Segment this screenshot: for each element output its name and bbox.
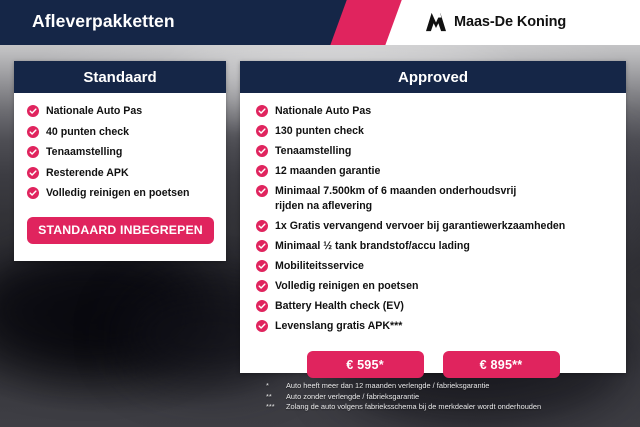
footnote-row: *** Zolang de auto volgens fabrieksschem…: [266, 402, 626, 413]
package-body-approved: Nationale Auto Pas 130 punten check Tena…: [240, 93, 626, 378]
footnote-marker: ***: [266, 402, 286, 413]
footnote-text: Auto zonder verlengde / fabrieksgarantie: [286, 392, 626, 403]
package-card-standaard: Standaard Nationale Auto Pas 40 punten c…: [14, 61, 226, 261]
check-circle-icon: [27, 167, 39, 179]
feature-list-approved: Nationale Auto Pas 130 punten check Tena…: [240, 104, 626, 334]
feature-label: Nationale Auto Pas: [275, 104, 371, 119]
maas-de-koning-logo-icon: [425, 12, 447, 32]
feature-label: Mobiliteitsservice: [275, 259, 364, 274]
check-circle-icon: [256, 220, 268, 232]
package-heading-standaard: Standaard: [14, 61, 226, 93]
list-item: 12 maanden garantie: [256, 164, 612, 179]
price-button-595[interactable]: € 595*: [307, 351, 424, 378]
list-item: 40 punten check: [27, 125, 216, 140]
footnotes: * Auto heeft meer dan 12 maanden verleng…: [266, 381, 626, 413]
feature-label: Volledig reinigen en poetsen: [46, 186, 189, 201]
list-item: Nationale Auto Pas: [27, 104, 216, 119]
package-heading-approved: Approved: [240, 61, 626, 93]
feature-label: 40 punten check: [46, 125, 129, 140]
check-circle-icon: [256, 145, 268, 157]
check-circle-icon: [27, 146, 39, 158]
list-item: Minimaal 7.500km of 6 maanden onderhouds…: [256, 184, 612, 214]
footnote-row: ** Auto zonder verlengde / fabrieksgaran…: [266, 392, 626, 403]
check-circle-icon: [256, 185, 268, 197]
footnote-marker: *: [266, 381, 286, 392]
top-header-bar: Afleverpakketten Maas-De Koning: [0, 0, 640, 45]
feature-label: 12 maanden garantie: [275, 164, 380, 179]
list-item: Nationale Auto Pas: [256, 104, 612, 119]
feature-label-continuation: rijden na aflevering: [275, 199, 516, 214]
feature-label: Tenaamstelling: [275, 144, 351, 159]
footnote-text: Auto heeft meer dan 12 maanden verlengde…: [286, 381, 626, 392]
list-item: Resterende APK: [27, 166, 216, 181]
check-circle-icon: [256, 300, 268, 312]
check-circle-icon: [256, 105, 268, 117]
brand-name: Maas-De Koning: [454, 14, 566, 30]
standaard-cta-wrap: STANDAARD INBEGREPEN: [14, 207, 226, 244]
feature-label: Nationale Auto Pas: [46, 104, 142, 119]
feature-label: Battery Health check (EV): [275, 299, 404, 314]
check-circle-icon: [256, 240, 268, 252]
package-body-standaard: Nationale Auto Pas 40 punten check Tenaa…: [14, 93, 226, 244]
feature-label: Volledig reinigen en poetsen: [275, 279, 418, 294]
brand-lockup: Maas-De Koning: [425, 12, 566, 32]
check-circle-icon: [27, 126, 39, 138]
afleverpakketten-screen: Afleverpakketten Maas-De Koning Standaar…: [0, 0, 640, 427]
list-item: Minimaal ½ tank brandstof/accu lading: [256, 239, 612, 254]
check-circle-icon: [256, 165, 268, 177]
footnote-marker: **: [266, 392, 286, 403]
feature-label: 130 punten check: [275, 124, 364, 139]
price-button-895[interactable]: € 895**: [443, 351, 560, 378]
list-item: Battery Health check (EV): [256, 299, 612, 314]
list-item: Volledig reinigen en poetsen: [256, 279, 612, 294]
list-item: 1x Gratis vervangend vervoer bij garanti…: [256, 219, 612, 234]
feature-label: Resterende APK: [46, 166, 129, 181]
feature-label: Minimaal ½ tank brandstof/accu lading: [275, 239, 470, 254]
check-circle-icon: [256, 260, 268, 272]
list-item: Levenslang gratis APK***: [256, 319, 612, 334]
price-button-row: € 595* € 895**: [240, 339, 626, 378]
page-title: Afleverpakketten: [32, 11, 175, 32]
check-circle-icon: [256, 280, 268, 292]
check-circle-icon: [256, 320, 268, 332]
check-circle-icon: [27, 187, 39, 199]
footnote-row: * Auto heeft meer dan 12 maanden verleng…: [266, 381, 626, 392]
check-circle-icon: [27, 105, 39, 117]
list-item: Mobiliteitsservice: [256, 259, 612, 274]
feature-label: Levenslang gratis APK***: [275, 319, 402, 334]
list-item: Tenaamstelling: [256, 144, 612, 159]
feature-list-standaard: Nationale Auto Pas 40 punten check Tenaa…: [14, 104, 226, 201]
list-item: 130 punten check: [256, 124, 612, 139]
standaard-inbegrepen-button[interactable]: STANDAARD INBEGREPEN: [27, 217, 214, 244]
footnote-text: Zolang de auto volgens fabrieksschema bi…: [286, 402, 626, 413]
package-card-approved: Approved Nationale Auto Pas 130 punten c…: [240, 61, 626, 373]
list-item: Tenaamstelling: [27, 145, 216, 160]
list-item: Volledig reinigen en poetsen: [27, 186, 216, 201]
feature-label: Minimaal 7.500km of 6 maanden onderhouds…: [275, 184, 516, 199]
feature-label: Tenaamstelling: [46, 145, 122, 160]
feature-label: 1x Gratis vervangend vervoer bij garanti…: [275, 219, 565, 234]
check-circle-icon: [256, 125, 268, 137]
